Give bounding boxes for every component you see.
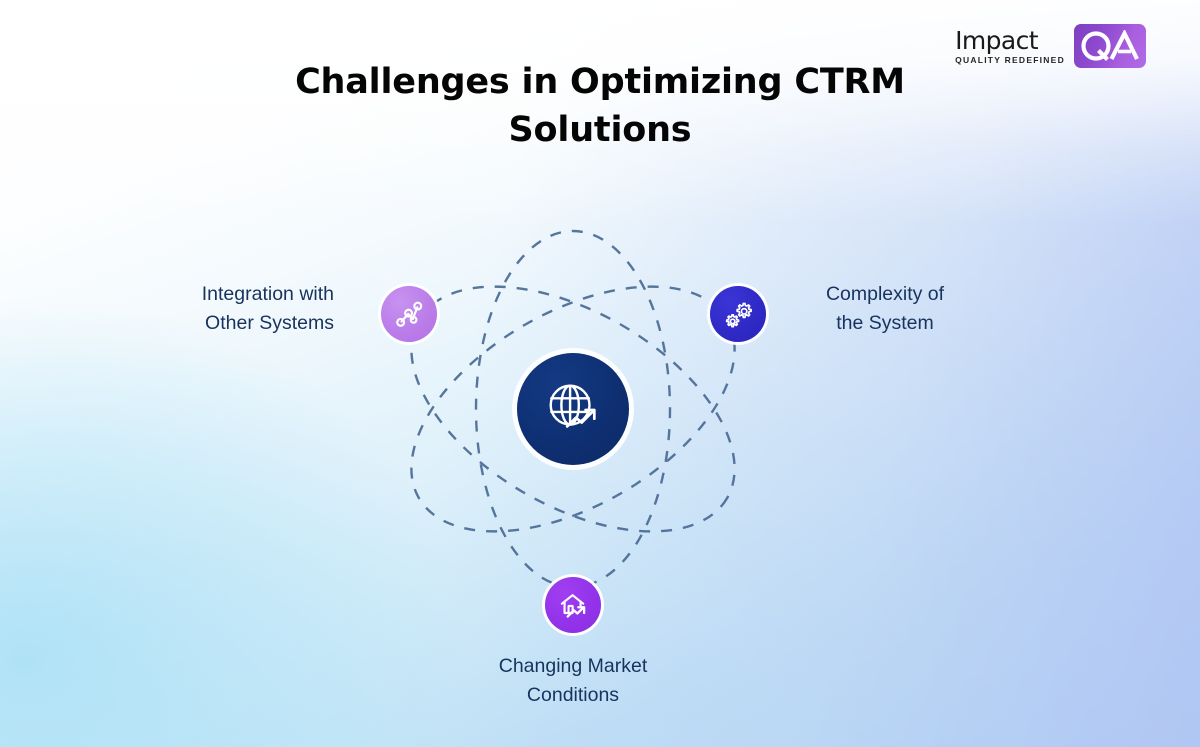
house-growth-icon [557,589,589,621]
node-complexity[interactable] [710,286,766,342]
label-integration-line-1: Integration with [202,283,334,305]
page-title-line-2: Solutions [0,106,1200,154]
page-title: Challenges in Optimizing CTRM Solutions [0,58,1200,154]
infographic-canvas: Impact QUALITY REDEFINED Challenges in O… [0,0,1200,747]
label-market-line-2: Conditions [527,684,619,706]
label-integration-line-2: Other Systems [205,312,334,334]
label-integration: Integration with Other Systems [110,280,334,338]
node-graph-icon [394,299,424,329]
label-complexity-line-1: Complexity of [826,283,944,305]
qa-monogram-icon [1080,30,1140,62]
brand-logo[interactable]: Impact QUALITY REDEFINED [955,24,1146,68]
logo-tagline-text: QUALITY REDEFINED [955,56,1065,65]
label-market: Changing Market Conditions [455,652,691,710]
node-market[interactable] [545,577,601,633]
label-complexity-line-2: the System [836,312,934,334]
center-node[interactable] [517,353,629,465]
logo-qa-badge [1074,24,1146,68]
gears-icon [723,299,754,330]
globe-growth-icon [542,378,604,440]
label-complexity: Complexity of the System [790,280,980,338]
logo-brand-text: Impact [955,28,1038,53]
label-market-line-1: Changing Market [499,655,648,677]
node-integration[interactable] [381,286,437,342]
logo-wordmark: Impact QUALITY REDEFINED [955,28,1065,65]
